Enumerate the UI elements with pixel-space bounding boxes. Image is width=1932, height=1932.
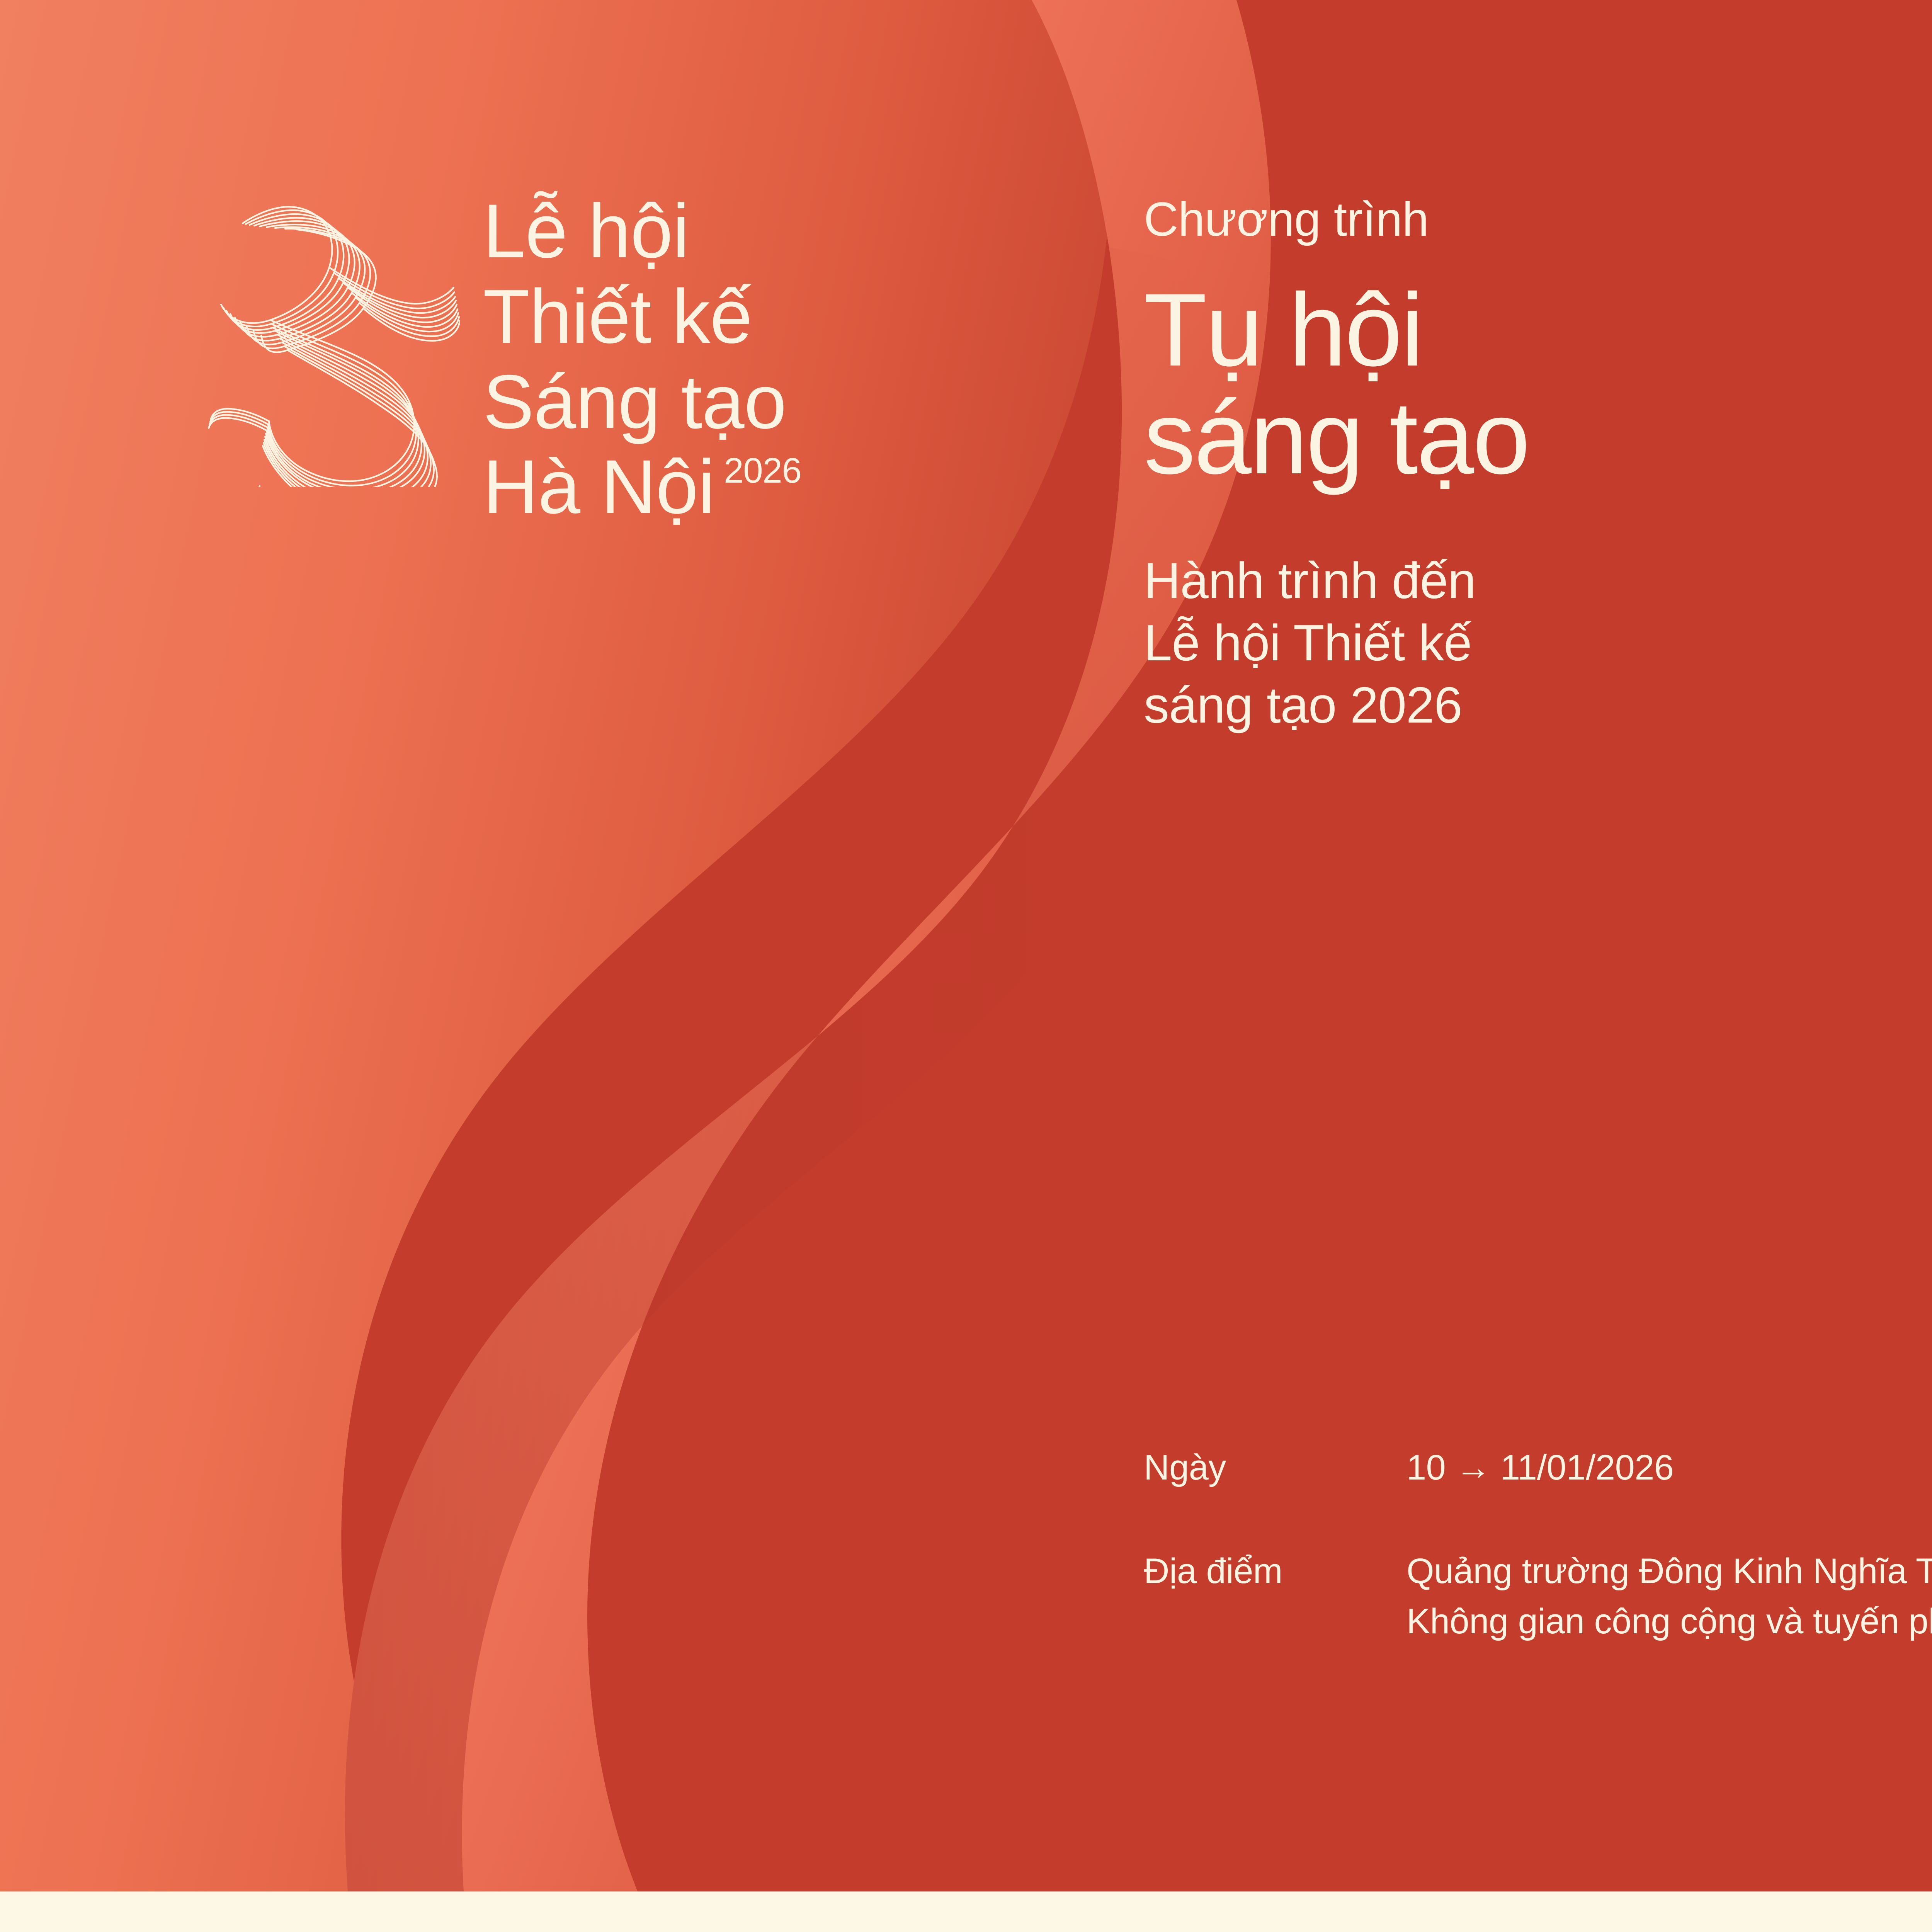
vi-subtitle-line-3: sáng tạo 2026 — [1144, 674, 1909, 736]
date-label: Ngày — [1144, 1445, 1406, 1491]
partners-footer: ĐƠN VỊ CHỈ ĐẠO HÀ NỘI — [0, 1891, 1932, 1932]
vi-eyebrow: Chương trình — [1144, 193, 1909, 246]
event-details: Ngày 10 → 11/01/2026 Địa điểm Quảng trườ… — [1144, 1445, 1932, 1644]
wordmark-year: 2026 — [724, 444, 801, 488]
venue-label: Địa điểm — [1144, 1549, 1406, 1594]
footer-section-directing: ĐƠN VỊ CHỈ ĐẠO HÀ NỘI — [116, 1891, 668, 1932]
footer-section-organizers: ĐƠN VỊ TỔ CHỨC HÀ NỘI — [742, 1891, 1314, 1932]
wordmark-line-1: Lễ hội — [483, 189, 801, 274]
footer-heading-organizers: ĐƠN VỊ TỔ CHỨC — [742, 1891, 1314, 1932]
wordmark-line-2: Thiết kế — [483, 274, 801, 359]
footer-heading-directing: ĐƠN VỊ CHỈ ĐẠO — [116, 1891, 668, 1932]
wordmark-line-4: Hà Nội — [483, 444, 714, 530]
vi-title-line-2: sáng tạo — [1144, 384, 1909, 492]
vi-title: Tụ hội sáng tạo — [1144, 276, 1909, 491]
wordmark-line-3: Sáng tạo — [483, 359, 801, 445]
vietnamese-text-column: Chương trình Tụ hội sáng tạo Hành trình … — [1144, 193, 1909, 736]
detail-row-venue: Địa điểm Quảng trường Đông Kinh Nghĩa Th… — [1144, 1549, 1932, 1645]
footer-section-companions: ĐƠN VỊ ĐỒNG HÀNH — [1430, 1891, 1932, 1932]
vi-title-line-1: Tụ hội — [1144, 276, 1909, 384]
vi-subtitle-line-2: Lễ hội Thiết kế — [1144, 612, 1909, 674]
vi-subtitle-line-1: Hành trình đến — [1144, 549, 1909, 612]
festival-logo-lockup: Lễ hội Thiết kế Sáng tạo Hà Nội 2026 — [193, 166, 801, 530]
detail-row-date: Ngày 10 → 11/01/2026 — [1144, 1445, 1932, 1491]
poster-canvas: Lễ hội Thiết kế Sáng tạo Hà Nội 2026 Chư… — [0, 0, 1932, 1932]
vi-subtitle: Hành trình đến Lễ hội Thiết kế sáng tạo … — [1144, 549, 1909, 736]
venue-line-1: Quảng trường Đông Kinh Nghĩa Thục · Nhà … — [1406, 1549, 1932, 1594]
festival-wordmark: Lễ hội Thiết kế Sáng tạo Hà Nội 2026 — [483, 166, 801, 530]
venue-value-group: Quảng trường Đông Kinh Nghĩa Thục · Nhà … — [1406, 1549, 1932, 1645]
date-value: 10 → 11/01/2026 — [1406, 1445, 1932, 1491]
s-swirl-logo-icon — [193, 166, 460, 487]
venue-line-2: Không gian công cộng và tuyến phố đi bộ … — [1406, 1599, 1932, 1645]
date-value-group: 10 → 11/01/2026 — [1406, 1445, 1932, 1491]
footer-heading-companions: ĐƠN VỊ ĐỒNG HÀNH — [1430, 1891, 1932, 1932]
